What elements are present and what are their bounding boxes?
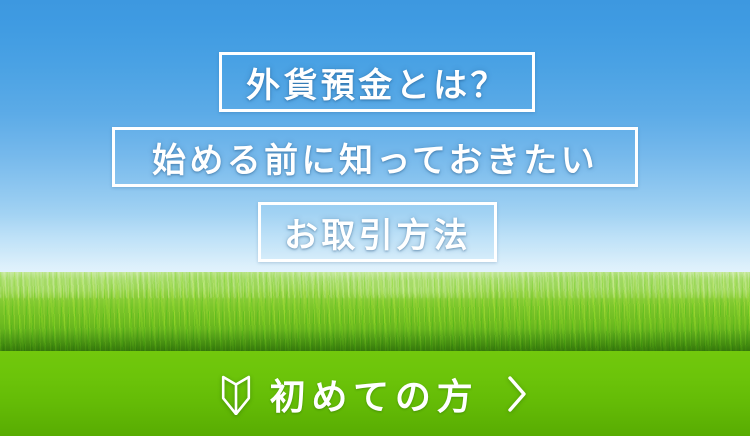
headline-group: 外貨預金とは？ 始める前に知っておきたい お取引方法 (0, 0, 750, 272)
chevron-right-icon (496, 374, 530, 414)
cta-label: 初めての方 (270, 368, 479, 420)
headline-line-2-text: 始める前に知っておきたい (152, 133, 598, 182)
grass-tip-highlights (0, 272, 750, 298)
headline-line-3-text: お取引方法 (284, 208, 471, 257)
headline-line-1: 外貨預金とは？ (219, 52, 535, 112)
headline-line-1-text: 外貨預金とは？ (246, 58, 508, 107)
headline-line-2: 始める前に知っておきたい (112, 127, 638, 187)
grass-bottom-shadow (0, 329, 750, 351)
headline-line-3: お取引方法 (258, 202, 497, 262)
cta-content: 初めての方 (220, 368, 531, 420)
grass-field-image (0, 272, 750, 351)
beginners-cta-bar[interactable]: 初めての方 (0, 351, 750, 436)
foreign-currency-deposit-banner: 外貨預金とは？ 始める前に知っておきたい お取引方法 初めての方 (0, 0, 750, 436)
leaf-beginner-mark-icon (220, 373, 252, 415)
